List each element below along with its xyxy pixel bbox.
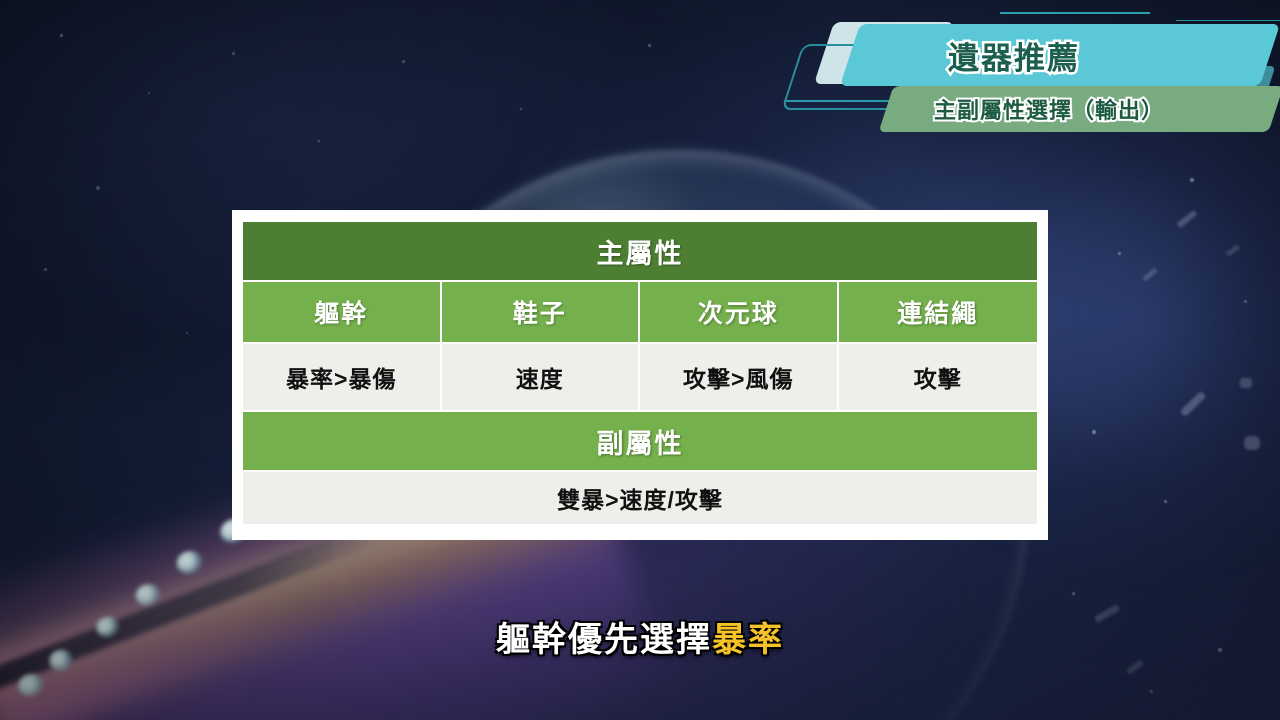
main-value-rope: 攻擊 [839,344,1038,410]
banner: 遺器推薦 主副屬性選擇（輸出） [0,0,1280,150]
column-header-feet: 鞋子 [442,282,641,344]
table-row-main-header: 主屬性 [243,222,1037,282]
caption-highlight: 暴率 [712,621,784,659]
banner-subtitle: 主副屬性選擇（輸出） [934,93,1164,125]
attributes-table: 主屬性 軀幹 鞋子 次元球 連結繩 暴率>暴傷 速度 攻擊>風傷 攻擊 副屬性 [232,210,1048,540]
main-value-body: 暴率>暴傷 [243,344,442,410]
banner-hairline-top [1000,12,1150,14]
banner-title: 遺器推薦 [948,33,1080,78]
main-value-feet: 速度 [442,344,641,410]
column-header-rope: 連結繩 [839,282,1038,344]
table-row-sub-header: 副屬性 [243,410,1037,472]
table-row-main-values: 暴率>暴傷 速度 攻擊>風傷 攻擊 [243,344,1037,410]
screenshot-stage: 遺器推薦 主副屬性選擇（輸出） 主屬性 軀幹 鞋子 次元球 連結繩 暴率>暴傷 … [0,0,1280,720]
table-row-sub-value: 雙暴>速度/攻擊 [243,472,1037,524]
caption-subtitle: 軀幹優先選擇暴率 [0,612,1280,661]
sub-attribute-header: 副屬性 [243,410,1037,472]
table-row-columns: 軀幹 鞋子 次元球 連結繩 [243,282,1037,344]
column-header-body: 軀幹 [243,282,442,344]
main-value-sphere: 攻擊>風傷 [640,344,839,410]
main-attribute-header: 主屬性 [243,222,1037,282]
caption-prefix: 軀幹優先選擇 [496,621,712,659]
banner-hairline-top2 [1176,20,1280,21]
sub-attribute-value: 雙暴>速度/攻擊 [243,472,1037,524]
column-header-sphere: 次元球 [640,282,839,344]
